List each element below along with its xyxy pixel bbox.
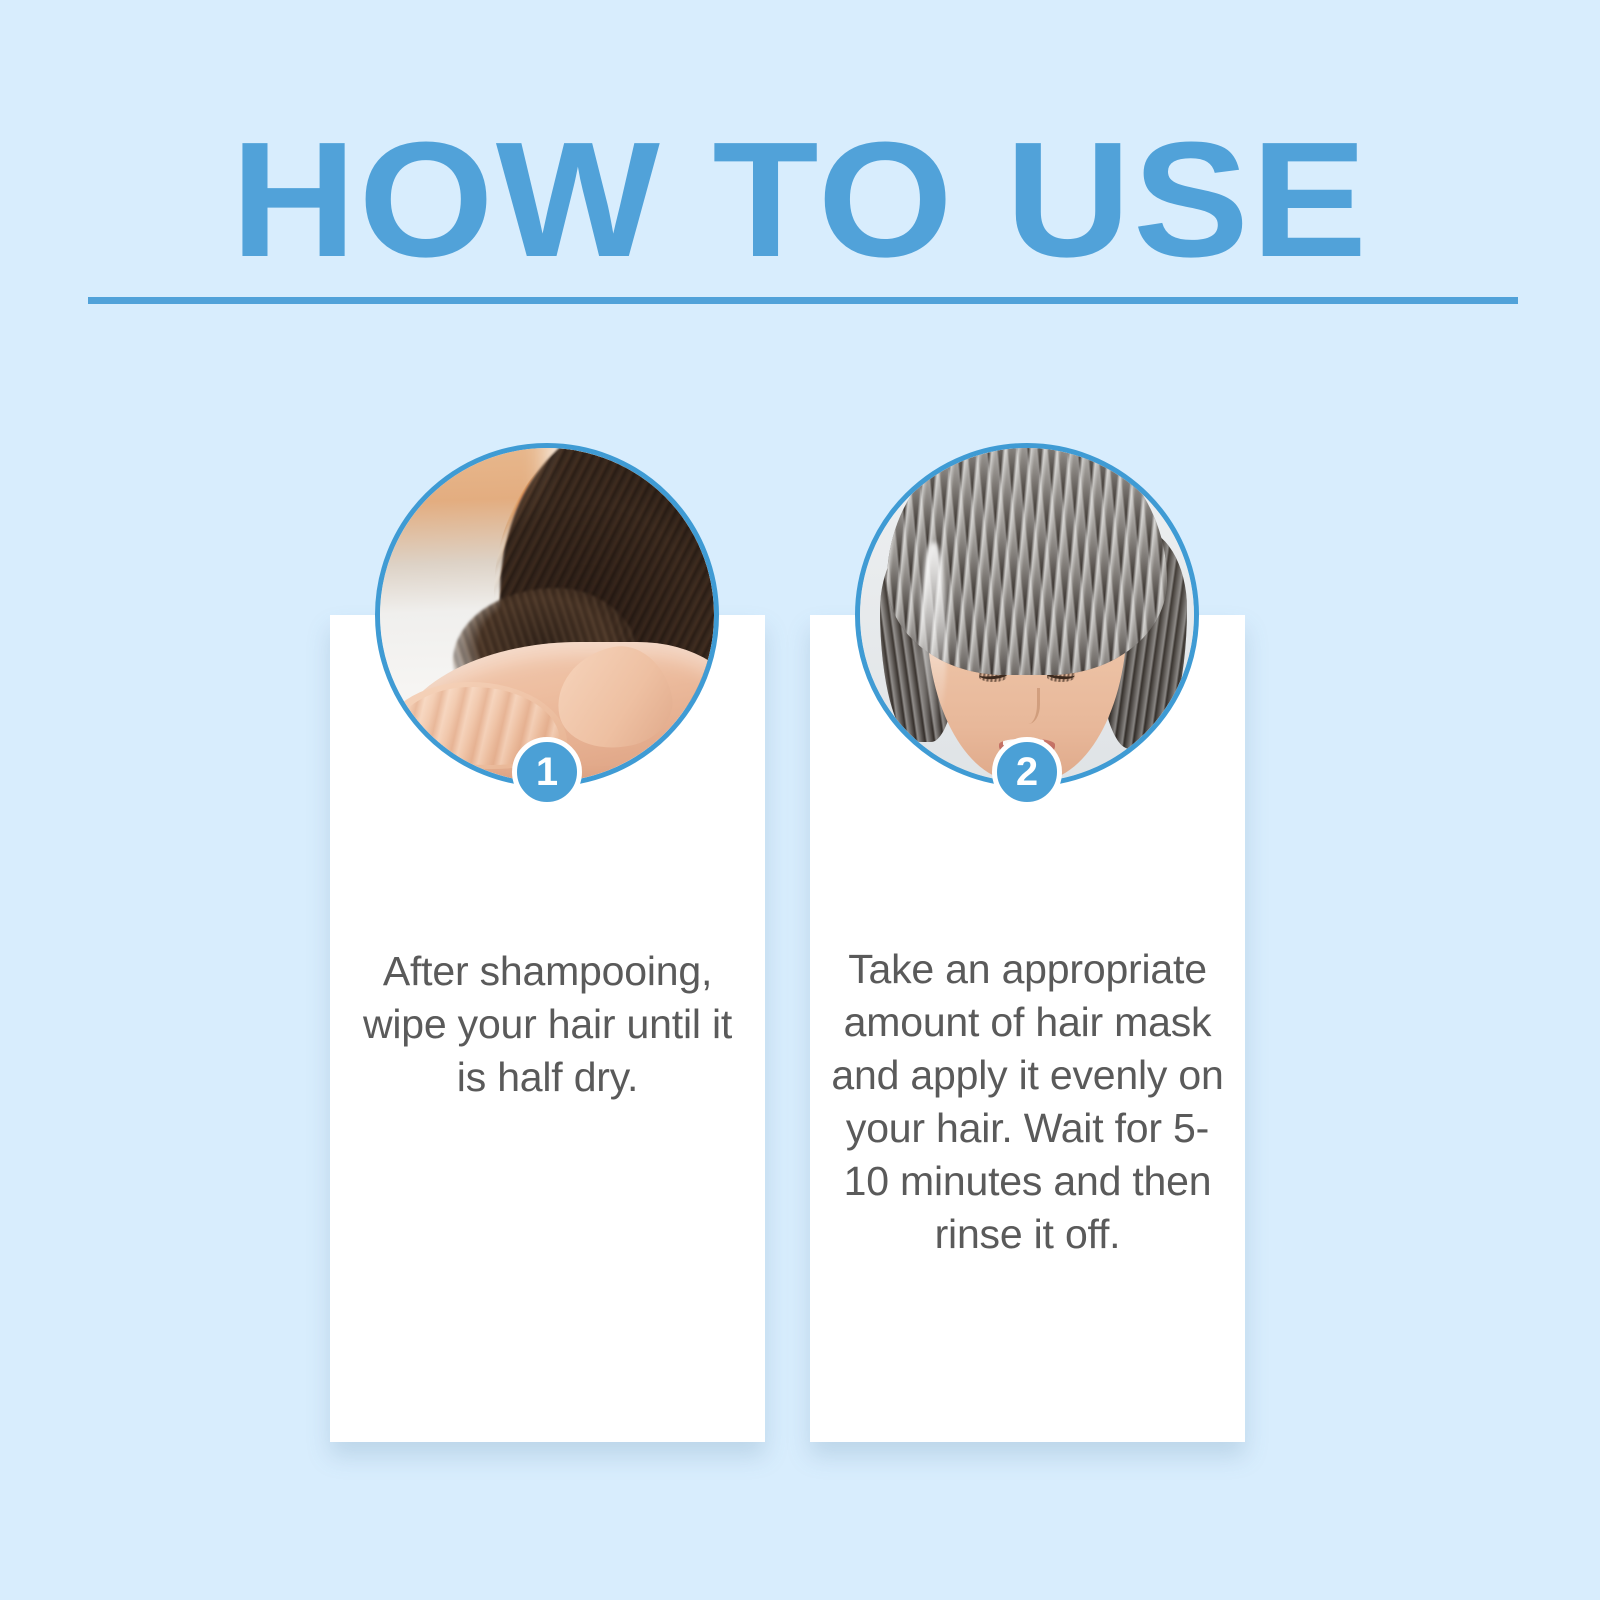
- step-2-photo-ring: [855, 443, 1199, 787]
- step-1-photo-ring: [375, 443, 719, 787]
- woman-applying-hair-mask-icon: [860, 448, 1194, 782]
- hand-holding-wet-hair-icon: [380, 448, 714, 782]
- photo-2-highlight: [920, 542, 947, 729]
- step-1-number-badge: 1: [512, 737, 582, 807]
- step-2-number-badge: 2: [992, 737, 1062, 807]
- step-card-2: Take an appropriate amount of hair mask …: [790, 0, 1260, 1600]
- step-2-description: Take an appropriate amount of hair mask …: [810, 943, 1245, 1261]
- step-1-description: After shampooing, wipe your hair until i…: [330, 945, 765, 1104]
- step-card-1: After shampooing, wipe your hair until i…: [310, 0, 780, 1600]
- photo-2-nose: [1019, 688, 1040, 724]
- steps-container: After shampooing, wipe your hair until i…: [0, 0, 1600, 1600]
